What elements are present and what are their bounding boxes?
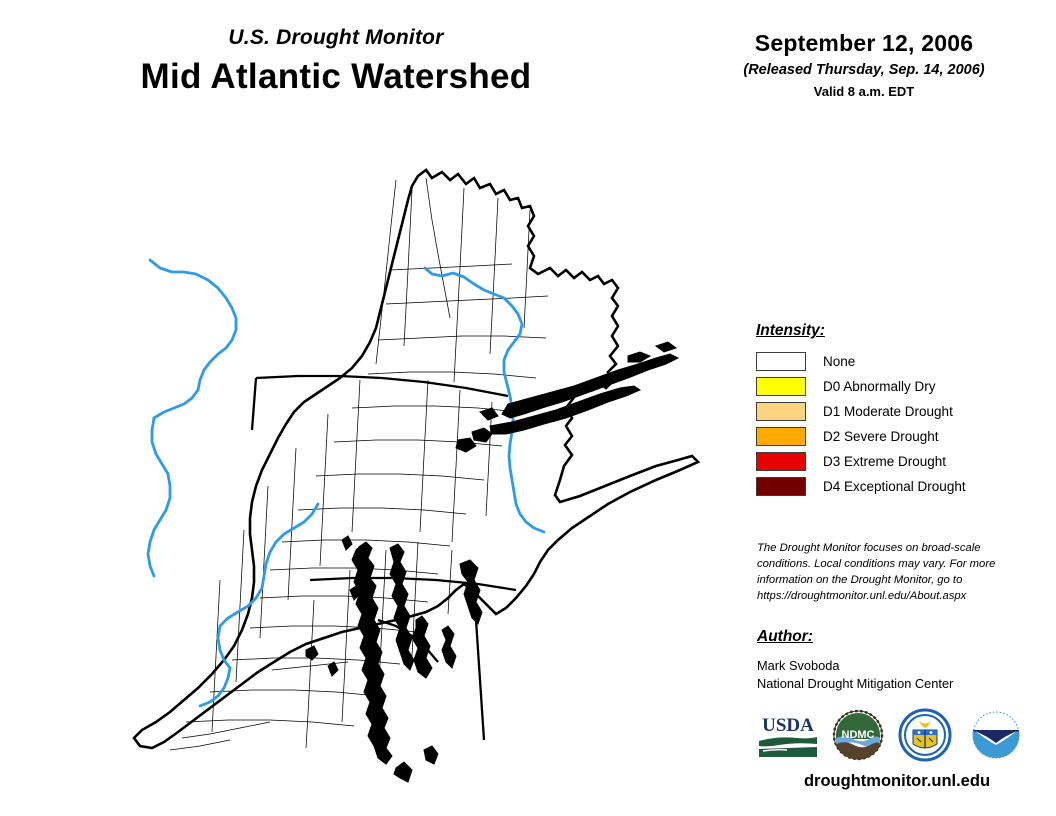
legend-item-d2[interactable]: D2 Severe Drought — [756, 424, 1026, 449]
date-block: September 12, 2006 (Released Thursday, S… — [672, 30, 1056, 99]
author-block: Author: Mark Svoboda National Drought Mi… — [757, 628, 1027, 692]
legend-item-d0[interactable]: D0 Abnormally Dry — [756, 374, 1026, 399]
ndmc-logo[interactable]: NDMC — [831, 709, 885, 761]
legend-heading: Intensity: — [756, 322, 1026, 340]
legend-swatch-d4 — [756, 477, 806, 496]
program-title: U.S. Drought Monitor — [0, 26, 672, 50]
disclaimer-text: The Drought Monitor focuses on broad-sca… — [757, 540, 1025, 604]
jawf-seal-logo[interactable] — [897, 708, 953, 762]
release-date: (Released Thursday, Sep. 14, 2006) — [672, 62, 1056, 78]
legend: Intensity: None D0 Abnormally Dry D1 Mod… — [756, 322, 1026, 499]
legend-item-d4[interactable]: D4 Exceptional Drought — [756, 474, 1026, 499]
noaa-logo-text: NOAA — [982, 718, 1010, 729]
legend-label-none: None — [823, 354, 855, 369]
page-title: Mid Atlantic Watershed — [0, 57, 672, 97]
noaa-logo[interactable]: NOAA — [965, 710, 1027, 760]
legend-item-d1[interactable]: D1 Moderate Drought — [756, 399, 1026, 424]
drought-map[interactable] — [60, 150, 720, 790]
map-svg — [60, 150, 720, 790]
author-heading: Author: — [757, 628, 1027, 646]
legend-swatch-d2 — [756, 427, 806, 446]
legend-swatch-d3 — [756, 452, 806, 471]
legend-label-d1: D1 Moderate Drought — [823, 404, 953, 419]
title-block: U.S. Drought Monitor Mid Atlantic Waters… — [0, 26, 672, 97]
legend-swatch-d1 — [756, 402, 806, 421]
legend-item-none[interactable]: None — [756, 349, 1026, 374]
legend-label-d2: D2 Severe Drought — [823, 429, 939, 444]
legend-swatch-d0 — [756, 377, 806, 396]
legend-label-d3: D3 Extreme Drought — [823, 454, 946, 469]
author-organization: National Drought Mitigation Center — [757, 675, 1027, 693]
author-name: Mark Svoboda — [757, 657, 1027, 675]
legend-item-d3[interactable]: D3 Extreme Drought — [756, 449, 1026, 474]
usda-logo[interactable]: USDA — [757, 711, 819, 759]
ndmc-logo-text: NDMC — [842, 729, 875, 741]
usda-logo-text: USDA — [762, 715, 814, 736]
logo-row: USDA NDMC NOAA — [757, 706, 1037, 764]
legend-label-d0: D0 Abnormally Dry — [823, 379, 936, 394]
legend-swatch-none — [756, 352, 806, 371]
map-date: September 12, 2006 — [672, 30, 1056, 57]
footer-url[interactable]: droughtmonitor.unl.edu — [757, 772, 1037, 791]
valid-time: Valid 8 a.m. EDT — [672, 84, 1056, 99]
legend-label-d4: D4 Exceptional Drought — [823, 479, 966, 494]
